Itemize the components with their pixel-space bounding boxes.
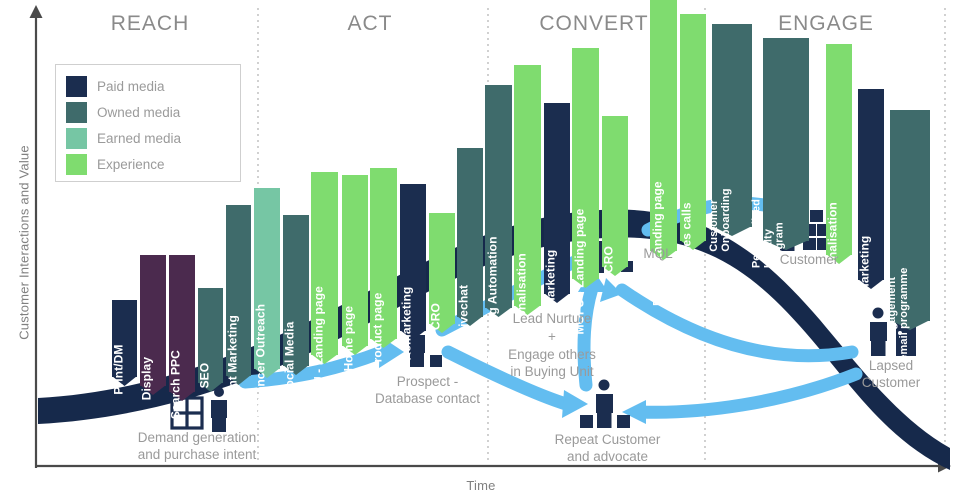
legend-swatch-icon: [66, 102, 87, 123]
bar-label: Personalisation: [826, 203, 839, 294]
channel-bar-print-dm[interactable]: Print/DM: [112, 300, 137, 386]
legend-label: Earned media: [97, 131, 181, 146]
persona-label-mql: MQL: [632, 246, 684, 263]
legend-label: Paid media: [97, 79, 165, 94]
bar-label: Re-engagementemail programme: [887, 267, 910, 360]
stage-header-reach: REACH: [70, 12, 230, 36]
bar-label: Remarketing: [400, 287, 413, 361]
channel-bar-personalisation[interactable]: Personalisation: [514, 65, 541, 315]
legend-item-paid-media: Paid media: [66, 73, 230, 99]
y-axis-label: Customer Interactions and Value: [17, 133, 32, 353]
channel-bar-sales-calls[interactable]: Sales calls: [680, 14, 706, 250]
marketing-lifecycle-diagram: Customer Interactions and Value Time REA…: [0, 0, 962, 500]
bar-label: Social Media: [283, 322, 296, 396]
flow-label-lead-nurture: Lead Nurture + Engage others in Buying U…: [492, 310, 612, 381]
channel-bar-display[interactable]: Display: [140, 255, 166, 395]
bar-label: Display: [140, 357, 153, 400]
bar-label: Product page: [371, 293, 384, 371]
bar-label: Home page: [342, 306, 355, 372]
channel-bar-home-page[interactable]: Home page: [342, 175, 368, 355]
bar-body: [602, 116, 628, 267]
legend-item-earned-media: Earned media: [66, 125, 230, 151]
legend-swatch-icon: [66, 76, 87, 97]
channel-bar-re-engagement-email-programme[interactable]: Re-engagementemail programme: [890, 110, 930, 330]
channel-bar-product-page[interactable]: Product page: [370, 168, 397, 348]
legend-item-experience: Experience: [66, 151, 230, 177]
legend-label: Owned media: [97, 105, 180, 120]
channel-bar-customer-onboarding[interactable]: CustomerOnboarding: [712, 24, 752, 236]
stage-header-act: ACT: [290, 12, 450, 36]
channel-bar-tofu-landing-page[interactable]: TOFU - Landing page: [311, 172, 338, 364]
bar-label: CRO: [602, 247, 615, 274]
bar-label: Influencer Outreach: [254, 304, 267, 419]
bar-label: TOFU - Landing page: [312, 286, 325, 409]
legend-item-owned-media: Owned media: [66, 99, 230, 125]
channel-bar-content-marketing[interactable]: Content Marketing: [226, 205, 251, 385]
bar-label: Print/DM: [112, 345, 125, 395]
persona-label-lapsed: Lapsed Customer: [852, 358, 930, 392]
bar-label: CRO: [429, 304, 442, 331]
persona-label-customer: Customer: [770, 252, 848, 269]
bar-label: Search PPC: [169, 350, 182, 419]
bar-label: CustomerOnboarding: [709, 188, 732, 251]
channel-bar-social-media[interactable]: Social Media: [283, 215, 309, 375]
channel-bar-search-ppc[interactable]: Search PPC: [169, 255, 195, 401]
legend-swatch-icon: [66, 154, 87, 175]
persona-label-demand: Demand generation and purchase intent: [132, 430, 262, 464]
bar-label: BOFU - Landing page: [651, 182, 664, 307]
persona-label-repeat: Repeat Customer and advocate: [545, 432, 670, 466]
channel-bar-cro[interactable]: CRO: [429, 213, 455, 333]
bar-label: SEO: [198, 363, 211, 389]
legend-label: Experience: [97, 157, 165, 172]
channel-bar-cro[interactable]: CRO: [602, 116, 628, 276]
media-type-legend: Paid mediaOwned mediaEarned mediaExperie…: [55, 64, 241, 182]
arrow-lapsed-to-repeat: [640, 374, 856, 412]
channel-bar-remarketing[interactable]: Remarketing: [544, 103, 570, 303]
bar-label: Remarketing: [858, 236, 871, 310]
channel-bar-seo[interactable]: SEO: [198, 288, 223, 392]
channel-bar-marketing-automation[interactable]: Marketing Automation: [485, 85, 512, 317]
channel-bar-livechat[interactable]: Livechat: [457, 148, 483, 326]
channel-bar-bofu-landing-page[interactable]: BOFU - Landing page: [650, 0, 677, 260]
stage-header-engage: ENGAGE: [746, 12, 906, 36]
channel-bar-remarketing[interactable]: Remarketing: [858, 89, 884, 289]
channel-bar-remarketing[interactable]: Remarketing: [400, 184, 426, 340]
bar-label: Content Marketing: [226, 315, 239, 422]
channel-bar-personalisation[interactable]: Personalisation: [826, 44, 852, 264]
x-axis-label: Time: [431, 478, 531, 493]
legend-swatch-icon: [66, 128, 87, 149]
channel-bar-personalized-loyalty-program[interactable]: PersonalizedLoyaltyProgram: [763, 38, 809, 250]
persona-label-prospect: Prospect - Database contact: [365, 374, 490, 408]
channel-bar-influencer-outreach[interactable]: Influencer Outreach: [254, 188, 280, 378]
arrowhead-repeat-in: [562, 390, 588, 418]
channel-bar-mofu-landing-page[interactable]: MOFU - Landing page: [572, 48, 599, 288]
bar-label: Livechat: [457, 285, 470, 335]
